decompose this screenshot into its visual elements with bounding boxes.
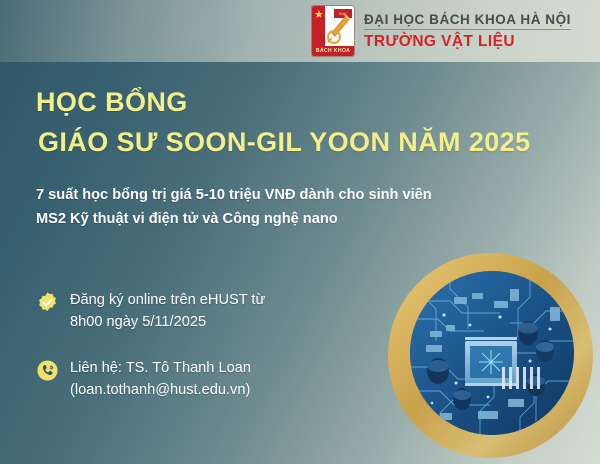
header-divider <box>364 29 571 30</box>
university-name: ĐẠI HỌC BÁCH KHOA HÀ NỘI <box>364 11 571 28</box>
scholarship-poster: ĐẠI HỌC BÁCH KHOA ĐẠI HỌC BÁCH KHOA HÀ N… <box>0 0 600 464</box>
bullet-registration-text: Đăng ký online trên eHUST từ 8h00 ngày 5… <box>70 289 265 333</box>
subtitle-line-2: MS2 Kỹ thuật vi điện tử và Công nghệ nan… <box>36 207 456 231</box>
bullet-contact: Liên hệ: TS. Tô Thanh Loan (loan.tothanh… <box>36 357 366 401</box>
subtitle-block: 7 suất học bổng trị giá 5-10 triệu VNĐ d… <box>36 183 456 231</box>
bullet-registration-line-2: 8h00 ngày 5/11/2025 <box>70 311 265 333</box>
bullet-contact-text: Liên hệ: TS. Tô Thanh Loan (loan.tothanh… <box>70 357 251 401</box>
bullet-contact-line-2: (loan.tothanh@hust.edu.vn) <box>70 379 251 401</box>
bullet-contact-line-1: Liên hệ: TS. Tô Thanh Loan <box>70 357 251 379</box>
school-name: TRƯỜNG VẬT LIỆU <box>364 32 571 51</box>
logo-bottom-label: BÁCH KHOA <box>312 46 354 56</box>
logo-torch-icon <box>326 14 352 45</box>
subtitle-line-1: 7 suất học bổng trị giá 5-10 triệu VNĐ d… <box>36 183 456 207</box>
bullet-registration-line-1: Đăng ký online trên eHUST từ <box>70 289 265 311</box>
circuit-board-photo <box>410 271 574 435</box>
header-brand-block: ĐẠI HỌC BÁCH KHOA ĐẠI HỌC BÁCH KHOA HÀ N… <box>312 6 571 56</box>
phone-ringing-icon <box>36 359 59 382</box>
headline-line-1: HỌC BỔNG <box>36 82 576 122</box>
bullet-registration: Đăng ký online trên eHUST từ 8h00 ngày 5… <box>36 289 366 333</box>
header-text-group: ĐẠI HỌC BÁCH KHOA HÀ NỘI TRƯỜNG VẬT LIỆU <box>364 11 571 51</box>
info-bullet-list: Đăng ký online trên eHUST từ 8h00 ngày 5… <box>36 289 366 425</box>
circuit-board-image-ring <box>388 253 593 458</box>
headline-line-2: GIÁO SƯ SOON-GIL YOON NĂM 2025 <box>38 122 576 162</box>
headline-block: HỌC BỔNG GIÁO SƯ SOON-GIL YOON NĂM 2025 <box>36 82 576 162</box>
hust-shield-logo-icon: ĐẠI HỌC BÁCH KHOA <box>312 6 354 56</box>
verified-badge-check-icon <box>36 291 59 314</box>
